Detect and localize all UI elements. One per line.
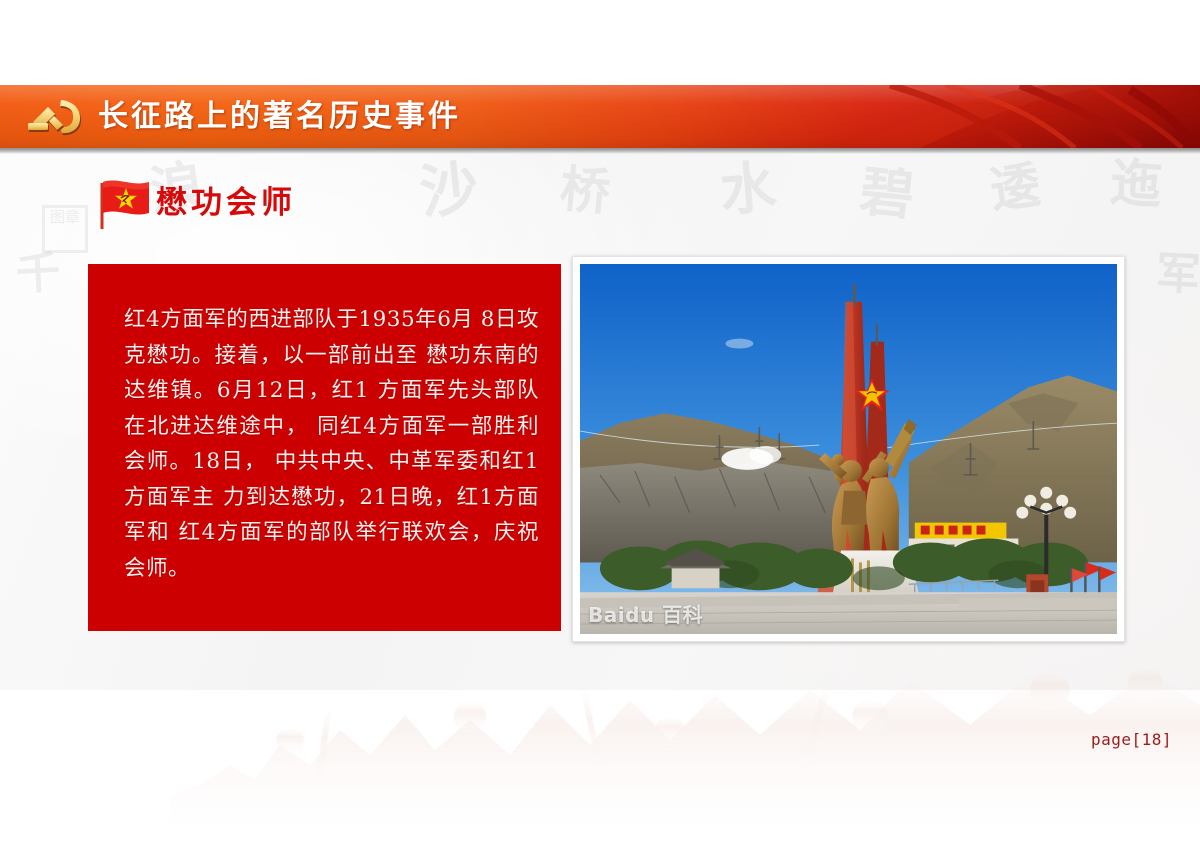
slide: 浪 沙 桥 水 碧 逶 迤 千 军 图章 (0, 0, 1200, 849)
seal-watermark: 图章 (42, 205, 88, 253)
calligraphy-watermark: 碧 (857, 162, 919, 224)
red-flag-star-icon (93, 177, 159, 233)
header-shadow (0, 148, 1200, 154)
monument-photo: Baidu 百科 (580, 264, 1117, 634)
calligraphy-watermark: 水 (718, 158, 781, 222)
section-title: 懋功会师 (156, 182, 296, 224)
calligraphy-watermark: 逶 (987, 159, 1045, 217)
calligraphy-watermark: 千 (9, 249, 58, 297)
calligraphy-watermark: 沙 (417, 157, 483, 224)
content-panel: 红4方面军的西进部队于1935年6月 8日攻克懋功。接着，以一部前出至 懋功东南… (88, 264, 561, 631)
page-title: 长征路上的著名历史事件 (98, 95, 461, 139)
calligraphy-watermark: 迤 (1108, 156, 1166, 214)
party-emblem-hammer-sickle-icon (26, 99, 88, 139)
page-number: page[18] (1091, 730, 1172, 749)
photo-frame[interactable]: Baidu 百科 (572, 256, 1125, 642)
relief-sculpture-watermark (170, 645, 1200, 825)
silk-ribbon-decoration (770, 85, 1200, 148)
calligraphy-watermark: 军 (1149, 249, 1198, 297)
calligraphy-watermark: 桥 (558, 163, 614, 220)
content-body-text: 红4方面军的西进部队于1935年6月 8日攻克懋功。接着，以一部前出至 懋功东南… (124, 302, 539, 586)
